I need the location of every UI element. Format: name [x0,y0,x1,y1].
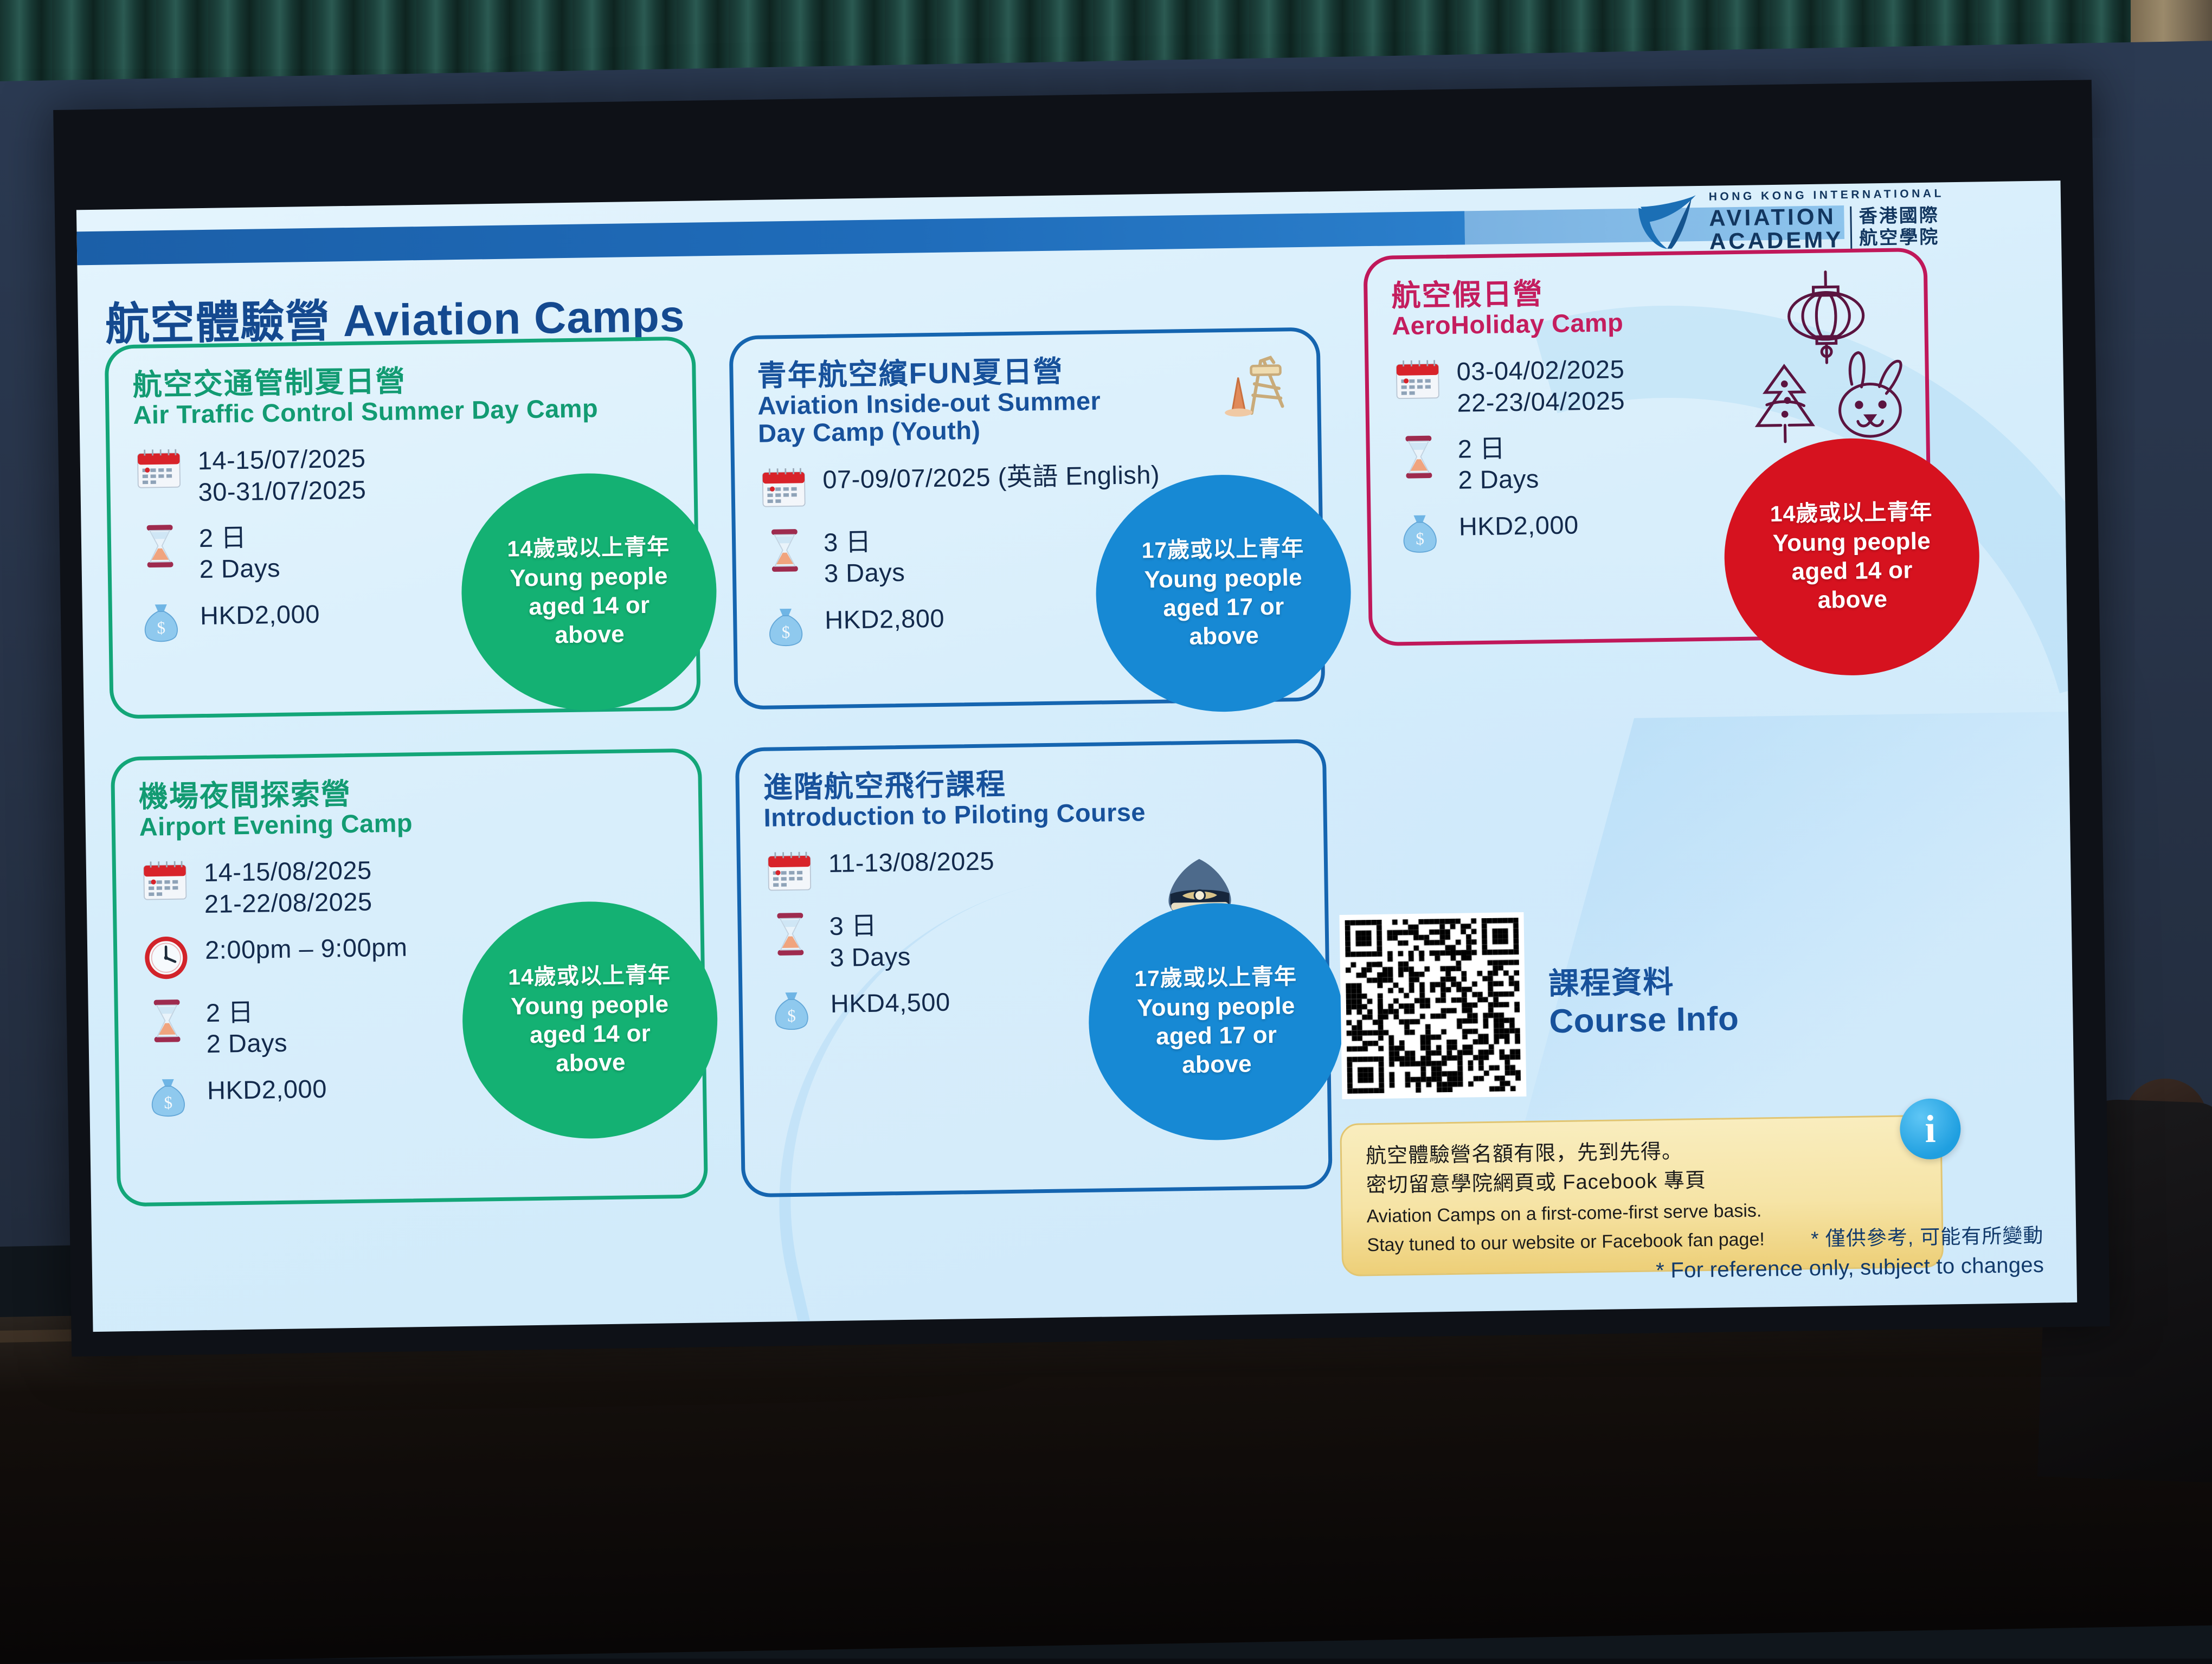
hourglass-icon [134,521,185,571]
calendar-icon [133,443,184,494]
lantern-tree-rabbit-icons [1736,268,1918,449]
hourglass-icon [142,994,192,1046]
hourglass-icon [142,995,192,1046]
detail-value: 14-15/08/2025 21-22/08/2025 [204,852,372,919]
calendar-icon [764,846,814,897]
logo-aviation: AVIATION [1709,204,1843,230]
course-info-block[interactable]: 課程資料 Course Info [1339,909,1740,1099]
badge-en: Young people aged 17 or above [1144,564,1303,652]
money-bag-icon: $ [1394,508,1445,559]
detail-value: 07-09/07/2025 (英語 English) [822,456,1160,495]
detail-value: 3 日 3 Days [824,523,905,589]
detail-value: HKD2,000 [1458,506,1579,542]
detail-value: HKD2,800 [825,599,945,635]
card-title-en: Aviation Inside-out Summer Day Camp (You… [757,384,1294,448]
badge-zh: 14歲或以上青年 [1770,498,1932,527]
badge-en: Young people aged 14 or above [511,990,670,1079]
logo-line-1: HONG KONG INTERNATIONAL [1709,188,1944,202]
detail-value: HKD4,500 [830,983,950,1020]
hourglass-icon [760,525,810,575]
money-bag-icon: $ [143,1072,194,1123]
course-info-zh: 課程資料 [1548,963,1739,1002]
money-bag-icon: $ [136,598,187,648]
detail-value: 11-13/08/2025 [828,842,994,879]
footnote-zh: * 僅供參考, 可能有所變動 [1655,1223,2044,1255]
svg-text:$: $ [787,1006,796,1025]
header-band [76,211,1465,265]
svg-text:$: $ [157,618,165,637]
aviation-academy-mark-icon [1635,194,1701,251]
detail-value: 2:00pm – 9:00pm [205,928,408,966]
qr-code-icon[interactable] [1339,912,1526,1099]
money-bag-icon: $ [1394,509,1445,559]
badge-zh: 17歲或以上青年 [1134,963,1297,992]
calendar-icon [758,461,809,512]
detail-value: 3 日 3 Days [829,906,911,973]
calendar-icon [764,845,814,897]
badge-zh: 14歲或以上青年 [508,962,671,991]
note-en-line-1: Aviation Camps on a first-come-first ser… [1366,1196,1918,1229]
traffic-cone-ladder-icon [1213,341,1296,423]
clock-icon [141,932,191,983]
hourglass-icon [1393,431,1444,482]
projection-screen: HONG KONG INTERNATIONAL AVIATION ACADEMY… [53,80,2110,1357]
svg-text:$: $ [781,622,790,641]
detail-value: HKD2,000 [207,1069,327,1106]
money-bag-icon: $ [766,985,816,1036]
calendar-icon [140,854,190,906]
hourglass-icon [134,520,185,571]
money-bag-icon: $ [766,986,816,1036]
detail-value: 2 日 2 Days [205,993,287,1060]
calendar-icon [1392,353,1443,404]
svg-text:$: $ [1416,529,1424,548]
money-bag-icon: $ [136,597,187,648]
hourglass-icon [765,909,815,959]
badge-zh: 14歲或以上青年 [507,533,670,563]
course-info-en: Course Info [1549,999,1739,1042]
badge-en: Young people aged 14 or above [1772,527,1932,616]
money-bag-icon: $ [761,602,811,653]
badge-zh: 17歲或以上青年 [1141,535,1304,564]
detail-value: 03-04/02/2025 22-23/04/2025 [1456,350,1625,418]
badge-en: Young people aged 17 or above [1137,992,1296,1080]
detail-value: 2 日 2 Days [198,518,280,585]
clock-icon [141,931,191,983]
traffic-cone-ladder-icon [1213,341,1296,426]
calendar-icon [758,462,809,512]
footnote: * 僅供參考, 可能有所變動 * For reference only, sub… [1655,1223,2044,1285]
lantern-tree-rabbit-icons [1736,268,1918,452]
calendar-icon [133,442,184,494]
hourglass-icon [765,908,815,959]
badge-en: Young people aged 14 or above [510,562,669,650]
detail-value: 2 日 2 Days [1457,429,1539,495]
hourglass-icon [760,524,810,575]
detail-value: HKD2,000 [200,595,320,631]
logo-zh-2: 航空學院 [1859,227,1940,249]
calendar-icon [140,855,190,906]
footnote-en: * For reference only, subject to changes [1656,1251,2044,1285]
money-bag-icon: $ [761,601,811,653]
svg-text:$: $ [164,1093,172,1112]
hourglass-icon [1393,430,1444,482]
logo-zh-1: 香港國際 [1859,205,1939,228]
money-bag-icon: $ [143,1073,194,1123]
slide-canvas: HONG KONG INTERNATIONAL AVIATION ACADEMY… [76,180,2077,1332]
hkiaa-logo: HONG KONG INTERNATIONAL AVIATION ACADEMY… [1635,188,1945,254]
logo-divider [1850,207,1852,249]
calendar-icon [1392,354,1443,404]
detail-value: 14-15/07/2025 30-31/07/2025 [197,440,366,507]
